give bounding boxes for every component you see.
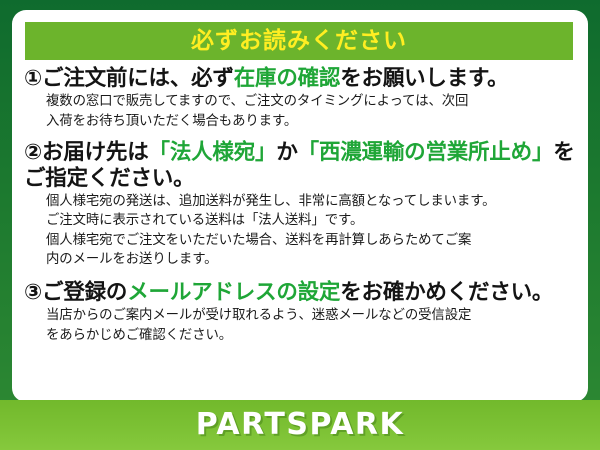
notice-item-3-detail: 当店からのご案内メールが受け取れるよう、迷惑メールなどの受信設定 をあらかじめご… — [24, 306, 578, 345]
notice-body: ①ご注文前には、必ず在庫の確認をお願いします。 複数の窓口で販売してますので、ご… — [12, 66, 588, 349]
notice-item-3-head-highlight: メールアドレスの設定 — [127, 280, 340, 305]
notice-item-1-heading: ①ご注文前には、必ず在庫の確認をお願いします。 — [24, 66, 578, 91]
notice-item-3-head-part-3: をお確かめください。 — [340, 280, 553, 305]
notice-item-1-head-part-1: ご注文前には、必ず — [42, 66, 234, 91]
notice-item-2-head-part-1: お届け先は — [42, 140, 149, 165]
notice-item-2: ②お届け先は「法人様宛」か「西濃運輸の営業所止め」をご指定ください。 個人様宅宛… — [24, 140, 578, 269]
notice-item-2-head-part-3: か — [276, 140, 297, 165]
notice-item-1-head-part-3: をお願いします。 — [340, 66, 508, 91]
notice-banner: 必ずお読みください ①ご注文前には、必ず在庫の確認をお願いします。 複数の窓口で… — [0, 0, 600, 450]
notice-item-1-marker: ① — [24, 66, 42, 91]
notice-item-1-head-highlight: 在庫の確認 — [234, 66, 341, 91]
notice-item-3: ③ご登録のメールアドレスの設定をお確かめください。 当店からのご案内メールが受け… — [24, 280, 578, 345]
notice-item-3-marker: ③ — [24, 280, 42, 305]
footer-bar: PARTSPARK — [0, 400, 600, 450]
notice-item-1-detail: 複数の窓口で販売してますので、ご注文のタイミングによっては、次回 入荷をお待ち頂… — [24, 92, 578, 131]
notice-item-2-head-highlight-1: 「法人様宛」 — [149, 140, 277, 165]
notice-item-3-heading: ③ご登録のメールアドレスの設定をお確かめください。 — [24, 280, 578, 305]
notice-item-2-detail: 個人様宅宛の発送は、追加送料が発生し、非常に高額となってしまいます。 ご注文時に… — [24, 192, 578, 270]
brand-logo-text: PARTSPARK — [196, 410, 405, 440]
notice-item-1: ①ご注文前には、必ず在庫の確認をお願いします。 複数の窓口で販売してますので、ご… — [24, 66, 578, 131]
notice-item-2-head-highlight-2: 「西濃運輸の営業所止め」 — [298, 140, 554, 165]
notice-item-2-heading: ②お届け先は「法人様宛」か「西濃運輸の営業所止め」をご指定ください。 — [24, 140, 578, 191]
notice-item-2-marker: ② — [24, 140, 42, 165]
notice-item-3-head-part-1: ご登録の — [42, 280, 127, 305]
header-banner: 必ずお読みください — [25, 22, 573, 60]
notice-card: 必ずお読みください ①ご注文前には、必ず在庫の確認をお願いします。 複数の窓口で… — [12, 10, 588, 402]
page-title: 必ずお読みください — [191, 30, 407, 53]
